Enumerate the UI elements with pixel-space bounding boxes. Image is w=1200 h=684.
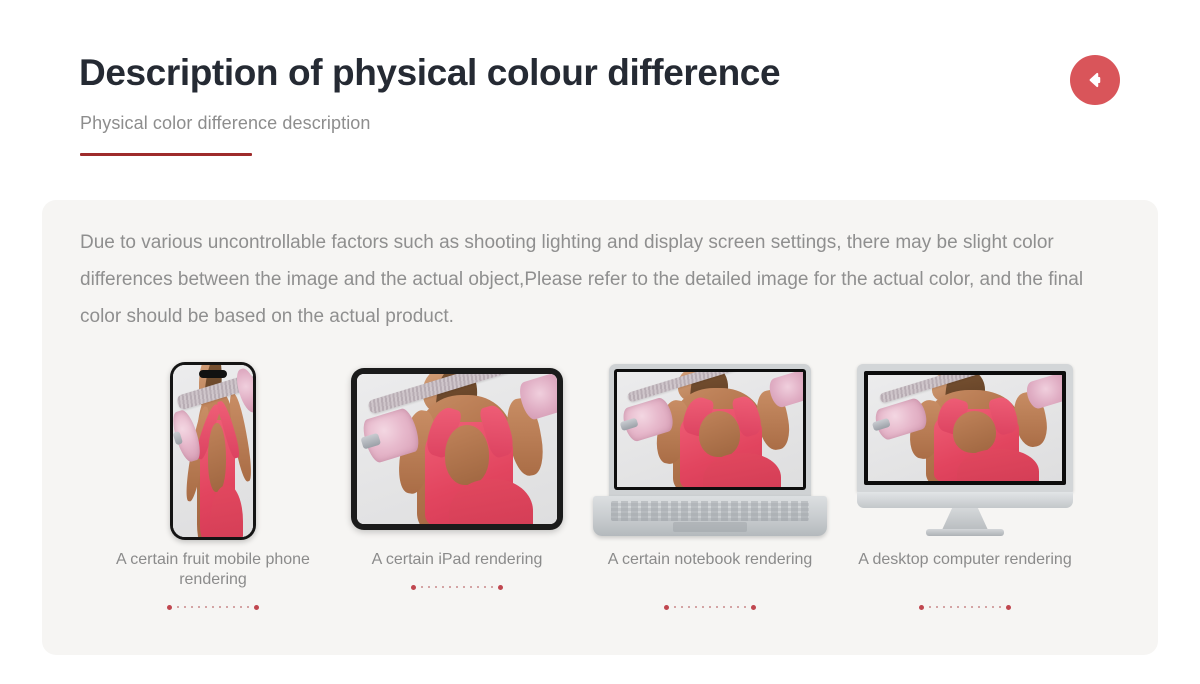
monitor-body <box>857 364 1073 492</box>
page-header: Description of physical colour differenc… <box>0 0 1200 190</box>
device-preview-tablet: A certain iPad rendering <box>332 360 582 650</box>
phone-screen <box>173 365 253 537</box>
device-stage-tablet <box>332 360 582 545</box>
color-difference-notice: Due to various uncontrollable factors su… <box>80 224 1120 335</box>
tablet-screen <box>357 374 557 524</box>
monitor-screen <box>868 375 1062 481</box>
arrow-left-icon <box>1083 68 1107 92</box>
device-stage-phone <box>88 360 338 545</box>
page-title: Description of physical colour differenc… <box>79 52 780 94</box>
device-caption: A certain fruit mobile phone rendering <box>88 550 338 590</box>
dot-divider <box>332 583 582 591</box>
dynamic-island-icon <box>199 370 227 378</box>
laptop-base <box>593 496 827 536</box>
phone-mockup <box>170 362 256 540</box>
dot-divider <box>88 603 338 611</box>
device-caption: A desktop computer rendering <box>840 550 1090 570</box>
device-caption: A certain iPad rendering <box>332 550 582 570</box>
title-underline-accent <box>80 153 252 156</box>
keyboard-icon <box>611 501 809 521</box>
device-preview-desktop-computer: A desktop computer rendering <box>840 360 1090 650</box>
laptop-bezel <box>614 369 806 490</box>
laptop-lid <box>609 364 811 498</box>
dot-divider <box>840 603 1090 611</box>
device-stage-desktop <box>840 360 1090 545</box>
laptop-screen <box>617 372 803 487</box>
back-button[interactable] <box>1070 55 1120 105</box>
dot-divider <box>585 603 835 611</box>
device-stage-notebook <box>585 360 835 545</box>
laptop-mockup <box>593 364 827 542</box>
device-caption: A certain notebook rendering <box>585 550 835 570</box>
monitor-bezel <box>864 371 1066 485</box>
monitor-stand-foot <box>926 529 1004 536</box>
device-preview-mobile-phone: A certain fruit mobile phone rendering <box>88 360 338 650</box>
product-photo-tablet <box>357 374 557 524</box>
desktop-mockup <box>849 364 1081 544</box>
device-preview-notebook: A certain notebook rendering <box>585 360 835 650</box>
product-photo-phone <box>173 365 253 537</box>
tablet-mockup <box>351 368 563 530</box>
product-photo-desktop <box>868 375 1062 481</box>
page-subtitle: Physical color difference description <box>80 113 371 134</box>
monitor-chin <box>857 492 1073 508</box>
trackpad-icon <box>673 522 747 532</box>
monitor-stand-neck <box>942 508 988 530</box>
product-photo-notebook <box>617 372 803 487</box>
color-difference-card: Due to various uncontrollable factors su… <box>42 200 1158 655</box>
device-preview-row: A certain fruit mobile phone rendering <box>42 360 1158 650</box>
